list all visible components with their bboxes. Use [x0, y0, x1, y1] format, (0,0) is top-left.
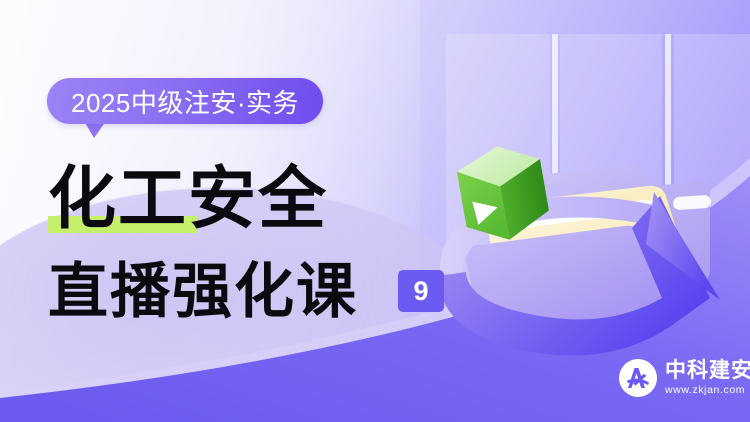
brand-url: www.zkjan.com — [665, 384, 750, 397]
lesson-number-text: 9 — [413, 278, 428, 305]
page-title-line-2: 直播强化课 — [48, 262, 358, 322]
course-subtitle-badge: 2025中级注安·实务 — [47, 78, 323, 124]
lesson-number-badge: 9 — [398, 270, 444, 312]
page-title-line-1: 化工安全 — [48, 166, 328, 234]
folder-illustration — [410, 100, 750, 360]
brand-logo-text: 中科建安 www.zkjan.com — [665, 360, 750, 397]
brand-name: 中科建安 — [665, 360, 750, 382]
brand-logo: 中科建安 www.zkjan.com — [619, 359, 750, 397]
course-subtitle-text: 2025中级注安·实务 — [71, 83, 299, 120]
brand-logo-mark-icon — [619, 359, 657, 397]
course-banner: 2025中级注安·实务 化工安全 直播强化课 9 中科建安 www.zkjan.… — [0, 0, 750, 422]
